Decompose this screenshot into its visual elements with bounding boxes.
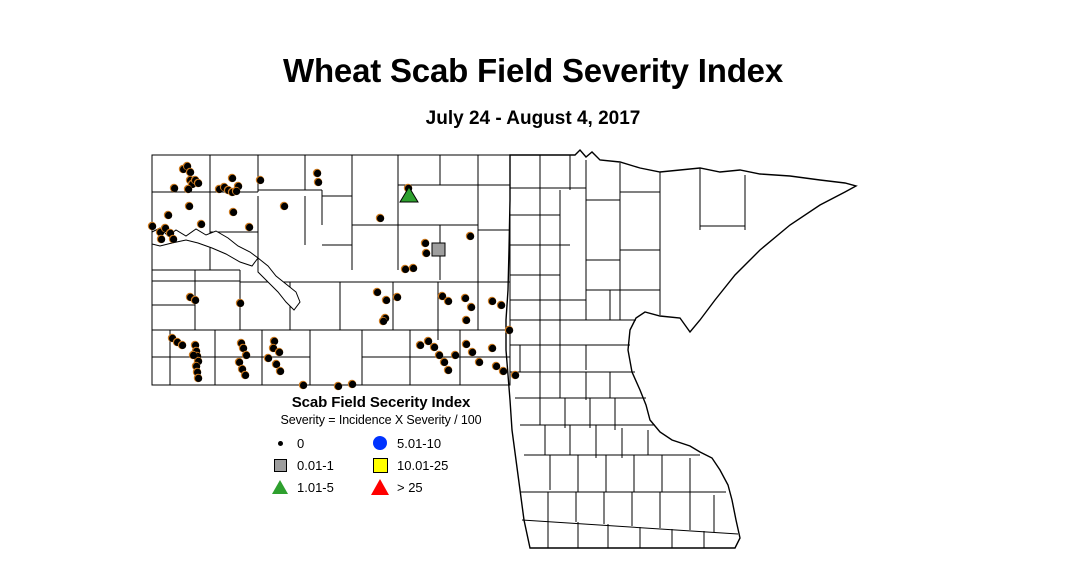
legend-item-0-01-1: 0.01-1 xyxy=(272,457,372,473)
map-point-severity-0 xyxy=(493,363,500,370)
map-point-severity-0 xyxy=(498,302,505,309)
yellow-square-icon xyxy=(372,457,388,473)
legend-label: 0 xyxy=(297,437,304,450)
map-point-severity-0 xyxy=(349,381,356,388)
map-point-severity-0 xyxy=(436,352,443,359)
map-point-severity-0 xyxy=(315,179,322,186)
map-point-severity-0 xyxy=(165,212,172,219)
map-point-severity-0 xyxy=(422,240,429,247)
map-point-severity-0 xyxy=(190,352,197,359)
map-point-severity-0 xyxy=(380,318,387,325)
map-point-severity-0 xyxy=(149,223,156,230)
map-point-severity-0 xyxy=(314,170,321,177)
map-point-severity-0 xyxy=(229,175,236,182)
legend-item-1-01-5: 1.01-5 xyxy=(272,479,372,495)
map-point-severity-0 xyxy=(230,209,237,216)
map-point-severity-0 xyxy=(335,383,342,390)
map-point-severity-0 xyxy=(506,327,513,334)
legend-label: 10.01-25 xyxy=(397,459,448,472)
map-point-severity-0 xyxy=(452,352,459,359)
map-point-severity-0 xyxy=(423,250,430,257)
map-canvas xyxy=(0,0,1066,565)
legend: Scab Field Secerity Index Severity = Inc… xyxy=(258,394,504,504)
map-point-severity-0 xyxy=(512,372,519,379)
legend-item-5-01-10: 5.01-10 xyxy=(372,435,504,451)
map-point-severity-0 xyxy=(467,233,474,240)
map-point-severity-0 xyxy=(170,236,177,243)
map-point-severity-0 xyxy=(233,188,240,195)
map-point-severity-0 xyxy=(257,177,264,184)
map-point-severity-0 xyxy=(243,352,250,359)
gray-square-icon xyxy=(272,457,288,473)
map-point-severity-0 xyxy=(265,355,272,362)
legend-formula: Severity = Incidence X Severity / 100 xyxy=(258,413,504,427)
map-point-severity-0 xyxy=(463,341,470,348)
legend-label: 0.01-1 xyxy=(297,459,334,472)
map-point-severity-0 xyxy=(468,304,475,311)
legend-item-over-25: > 25 xyxy=(372,479,504,495)
map-point-severity-0 xyxy=(402,266,409,273)
map-point-severity-0 xyxy=(198,221,205,228)
map-point-severity-0 xyxy=(195,180,202,187)
red-triangle-icon xyxy=(372,479,388,495)
map-point-severity-0 xyxy=(377,215,384,222)
map-point-severity-0 xyxy=(237,300,244,307)
map-point-severity-0 xyxy=(246,224,253,231)
map-point-severity-0 xyxy=(417,342,424,349)
north-dakota-counties xyxy=(152,155,510,385)
map-point-severity-0 xyxy=(476,359,483,366)
map-point-severity-0 xyxy=(179,342,186,349)
map-point-severity-0 xyxy=(445,367,452,374)
map-figure: Wheat Scab Field Severity Index July 24 … xyxy=(0,0,1066,565)
map-point-severity-0 xyxy=(425,338,432,345)
map-point-severity-0 xyxy=(192,297,199,304)
map-point-severity-0 xyxy=(383,297,390,304)
map-point-severity-0 xyxy=(410,265,417,272)
map-point-severity-0 xyxy=(441,359,448,366)
map-point-severity-0 xyxy=(374,289,381,296)
black-dot-icon xyxy=(272,435,288,451)
map-point-severity-0 xyxy=(242,372,249,379)
map-point-severity-0 xyxy=(187,169,194,176)
map-point-severity-0 xyxy=(195,375,202,382)
legend-label: 5.01-10 xyxy=(397,437,441,450)
map-point-severity-0 xyxy=(277,368,284,375)
blue-circle-icon xyxy=(372,435,388,451)
legend-label: 1.01-5 xyxy=(297,481,334,494)
map-point-severity-0 xyxy=(300,382,307,389)
legend-label: > 25 xyxy=(397,481,423,494)
legend-title: Scab Field Secerity Index xyxy=(258,394,504,411)
map-point-severity-0 xyxy=(276,349,283,356)
legend-items: 0 5.01-10 0.01-1 10.01-25 1.01-5 > 25 xyxy=(258,432,504,498)
map-point-severity-0 xyxy=(462,295,469,302)
states-map xyxy=(0,0,1066,565)
map-point-severity-0 xyxy=(431,344,438,351)
minnesota-counties xyxy=(506,150,856,548)
map-point-severity-0 xyxy=(489,298,496,305)
map-point-severity-0 xyxy=(158,236,165,243)
legend-item-10-01-25: 10.01-25 xyxy=(372,457,504,473)
map-point-severity-0 xyxy=(463,317,470,324)
map-point-severity-0 xyxy=(445,298,452,305)
map-point-severity-0 xyxy=(281,203,288,210)
map-point-severity-0 xyxy=(394,294,401,301)
map-point-severity-0 xyxy=(171,185,178,192)
legend-item-0: 0 xyxy=(272,435,372,451)
map-point-severity-0 xyxy=(489,345,496,352)
map-point-severity-0 xyxy=(185,186,192,193)
green-triangle-icon xyxy=(272,479,288,495)
map-point-severity-0 xyxy=(500,368,507,375)
map-point-severity-0-01-1 xyxy=(432,243,445,256)
map-point-severity-0 xyxy=(186,203,193,210)
map-point-severity-0 xyxy=(469,349,476,356)
